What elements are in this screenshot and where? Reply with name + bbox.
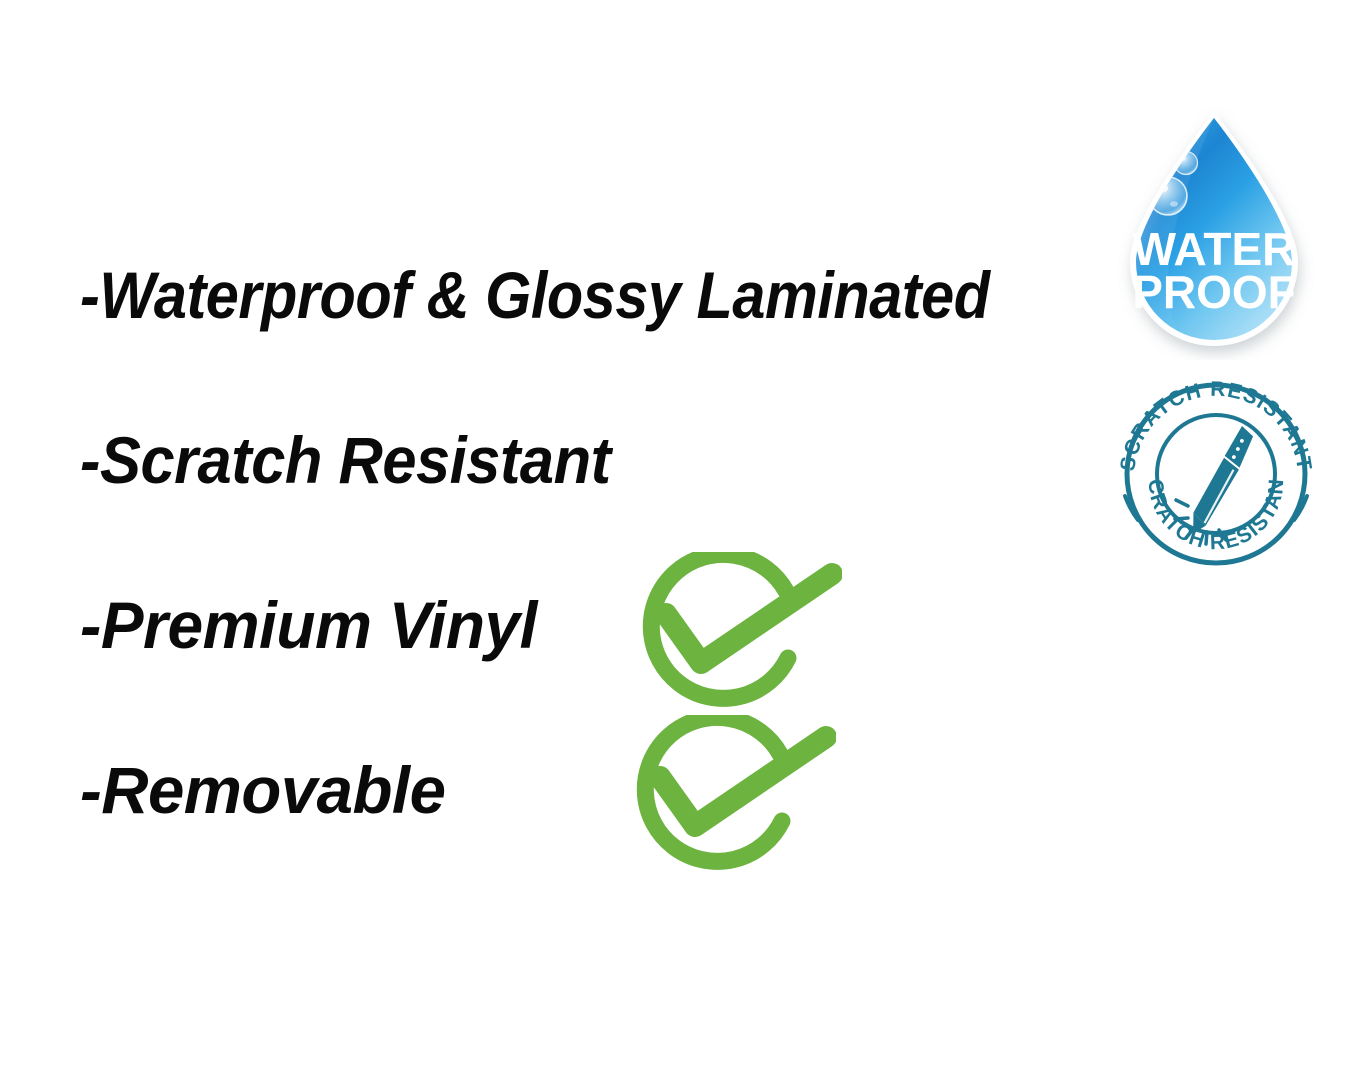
feature-item-scratch-resistant: -Scratch Resistant: [80, 427, 611, 493]
scratch-badge-text-top: SCRATCH RESISTANT: [1116, 378, 1316, 473]
feature-list: -Waterproof & Glossy Laminated -Scratch …: [0, 0, 1100, 1080]
check-circle-icon: [630, 715, 836, 881]
feature-item-premium-vinyl: -Premium Vinyl: [80, 592, 537, 658]
waterproof-line2: PROOF: [1132, 266, 1296, 318]
feature-item-removable: -Removable: [80, 757, 445, 823]
feature-graphic-canvas: -Waterproof & Glossy Laminated -Scratch …: [0, 0, 1359, 1080]
check-circle-icon: [636, 552, 842, 718]
scratch-resistant-badge: SCRATCH RESISTANT SCRATCH RESISTANT: [1112, 378, 1320, 568]
waterproof-badge: WATER PROOF: [1098, 104, 1330, 360]
feature-item-waterproof-glossy-laminated: -Waterproof & Glossy Laminated: [80, 262, 990, 328]
